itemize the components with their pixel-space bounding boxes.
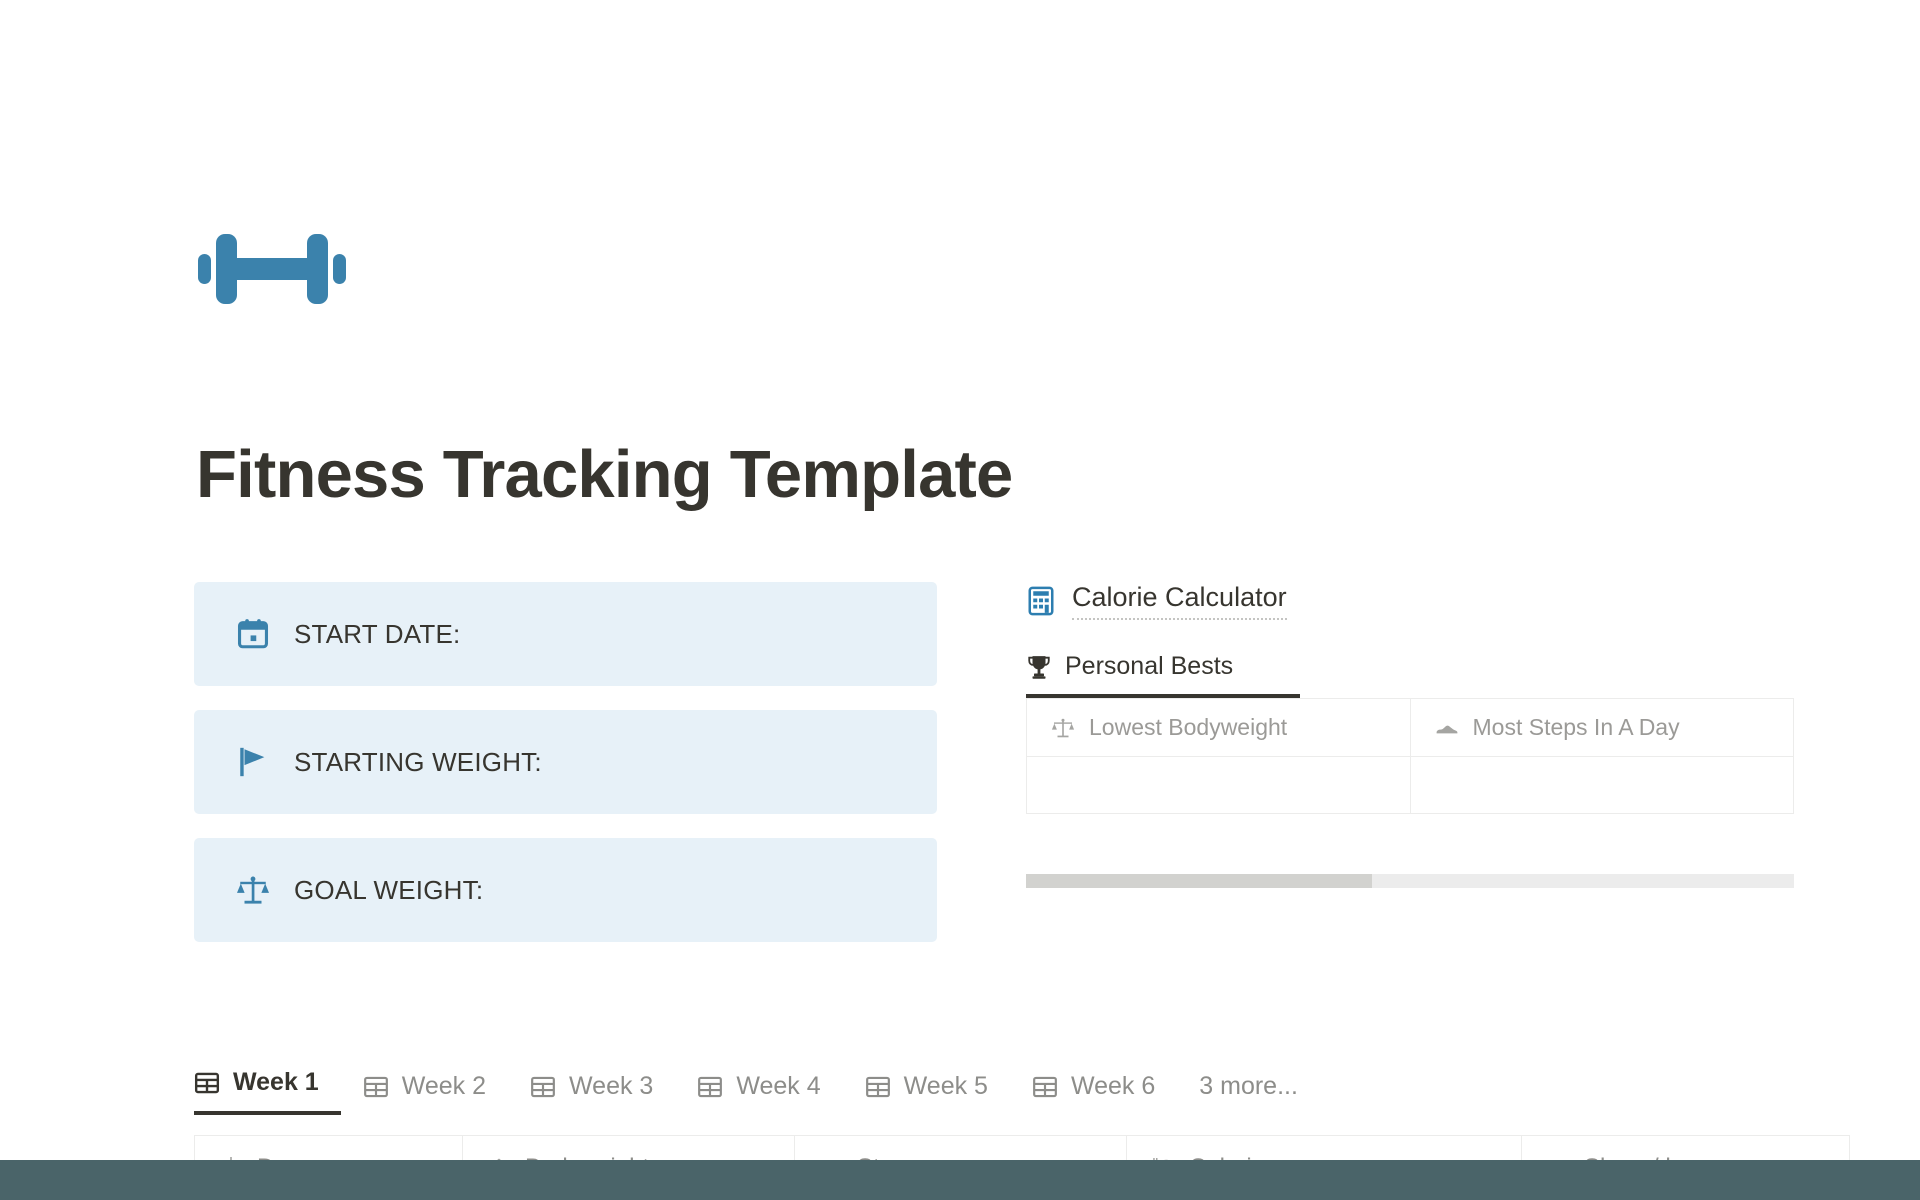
- shoe-icon: [1435, 716, 1459, 740]
- callout-label: STARTING WEIGHT:: [294, 747, 542, 778]
- column-header-lowest-bodyweight[interactable]: Lowest Bodyweight: [1027, 699, 1411, 757]
- callout-label: START DATE:: [294, 619, 460, 650]
- calendar-icon: [236, 617, 270, 651]
- cell-lowest-bodyweight[interactable]: [1027, 757, 1411, 814]
- tab-week-6[interactable]: Week 6: [1010, 1072, 1177, 1115]
- bottom-bar: [0, 1160, 1920, 1200]
- week-tabs-more-button[interactable]: 3 more...: [1177, 1072, 1320, 1115]
- callout-starting-weight[interactable]: STARTING WEIGHT:: [194, 710, 937, 814]
- table-icon: [697, 1074, 723, 1100]
- dumbbell-icon: [198, 224, 346, 314]
- tab-week-5[interactable]: Week 5: [843, 1072, 1010, 1115]
- table-icon: [194, 1070, 220, 1096]
- table-row[interactable]: [1027, 757, 1794, 814]
- tab-label: Personal Bests: [1065, 652, 1233, 681]
- tab-label: Week 2: [402, 1072, 486, 1101]
- personal-bests-table: Lowest Bodyweight Most Steps In A Day: [1026, 698, 1794, 814]
- table-icon: [865, 1074, 891, 1100]
- callout-start-date[interactable]: START DATE:: [194, 582, 937, 686]
- page-root: Fitness Tracking Template START DATE: ST…: [0, 0, 1920, 1200]
- calculator-icon: [1026, 586, 1056, 616]
- flag-icon: [236, 745, 270, 779]
- personal-bests-tabbar: Personal Bests: [1026, 652, 1794, 698]
- tab-label: Week 5: [904, 1072, 988, 1101]
- callout-label: GOAL WEIGHT:: [294, 875, 483, 906]
- horizontal-scrollbar-thumb[interactable]: [1026, 874, 1372, 888]
- right-column: Calorie Calculator Personal Bests: [1026, 582, 1794, 888]
- calorie-calculator-link[interactable]: Calorie Calculator: [1026, 582, 1794, 620]
- table-header-row: Lowest Bodyweight Most Steps In A Day: [1027, 699, 1794, 757]
- tab-personal-bests[interactable]: Personal Bests: [1026, 652, 1300, 698]
- table-icon: [1032, 1074, 1058, 1100]
- tab-week-3[interactable]: Week 3: [508, 1072, 675, 1115]
- column-header-most-steps[interactable]: Most Steps In A Day: [1410, 699, 1794, 757]
- week-tabs: Week 1 Week 2 Week 3: [194, 1068, 1320, 1115]
- trophy-icon: [1026, 654, 1052, 680]
- table-icon: [363, 1074, 389, 1100]
- tab-label: Week 1: [233, 1068, 319, 1097]
- tab-label: Week 3: [569, 1072, 653, 1101]
- horizontal-scrollbar-track[interactable]: [1026, 874, 1794, 888]
- cell-most-steps[interactable]: [1410, 757, 1794, 814]
- tab-week-2[interactable]: Week 2: [341, 1072, 508, 1115]
- balance-scale-icon: [236, 873, 270, 907]
- tab-label: Week 4: [736, 1072, 820, 1101]
- calorie-calculator-label: Calorie Calculator: [1072, 582, 1287, 620]
- column-header-label: Most Steps In A Day: [1473, 714, 1680, 741]
- table-icon: [530, 1074, 556, 1100]
- page-title: Fitness Tracking Template: [196, 438, 1013, 512]
- tab-label: Week 6: [1071, 1072, 1155, 1101]
- tab-week-4[interactable]: Week 4: [675, 1072, 842, 1115]
- column-header-label: Lowest Bodyweight: [1089, 714, 1287, 741]
- tab-week-1[interactable]: Week 1: [194, 1068, 341, 1115]
- callout-list: START DATE: STARTING WEIGHT: GOAL WEIGHT…: [194, 582, 937, 942]
- callout-goal-weight[interactable]: GOAL WEIGHT:: [194, 838, 937, 942]
- balance-scale-icon: [1051, 716, 1075, 740]
